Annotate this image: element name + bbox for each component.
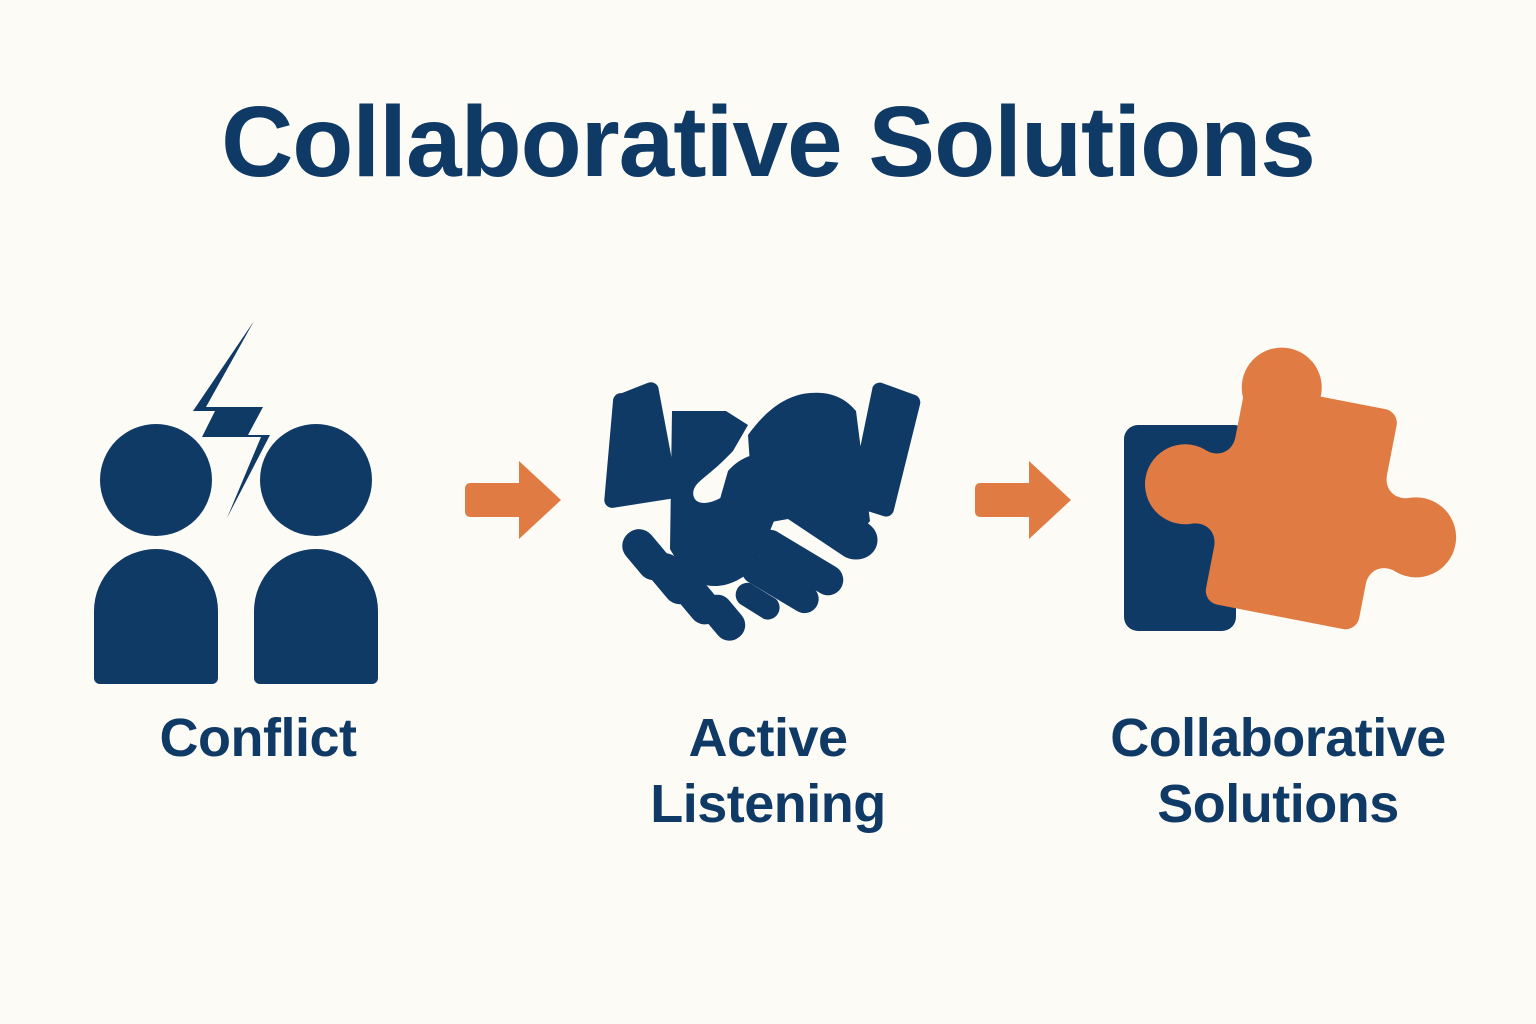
handshake-left-cuff [587, 380, 679, 508]
flow-step-conflict: Conflict [63, 300, 453, 772]
step-label-line1: Conflict [160, 708, 357, 768]
page-title: Collaborative Solutions [0, 88, 1536, 196]
arrow-right-glyph [975, 461, 1071, 539]
step-art-puzzle [1083, 300, 1473, 700]
step-label-line2: Listening [650, 772, 886, 838]
connector-arrow-2 [963, 300, 1083, 700]
flow-step-active-listening: Active Listening [573, 300, 963, 838]
step-art-handshake [573, 300, 963, 700]
step-label-conflict: Conflict [160, 706, 357, 772]
step-label-line2: Solutions [1110, 772, 1446, 838]
infographic-canvas: Collaborative Solutions [0, 0, 1536, 1024]
person-right-head [260, 424, 372, 536]
step-label-active-listening: Active Listening [650, 706, 886, 838]
puzzle-pieces-icon [1106, 355, 1451, 645]
two-people-conflict-icon [88, 315, 428, 685]
step-label-line1: Active [688, 708, 847, 768]
arrow-right-glyph [465, 461, 561, 539]
flow-step-collaborative-solutions: Collaborative Solutions [1083, 300, 1473, 838]
handshake-icon [578, 373, 958, 628]
arrow-right-icon [971, 457, 1075, 543]
step-art-conflict [63, 300, 453, 700]
step-label-collaborative-solutions: Collaborative Solutions [1110, 706, 1446, 838]
connector-arrow-1 [453, 300, 573, 700]
person-left-body [94, 549, 218, 684]
arrow-right-icon [461, 457, 565, 543]
person-right-body [254, 549, 378, 684]
person-left-head [100, 424, 212, 536]
step-label-line1: Collaborative [1110, 708, 1446, 768]
process-flow: Conflict [0, 300, 1536, 920]
